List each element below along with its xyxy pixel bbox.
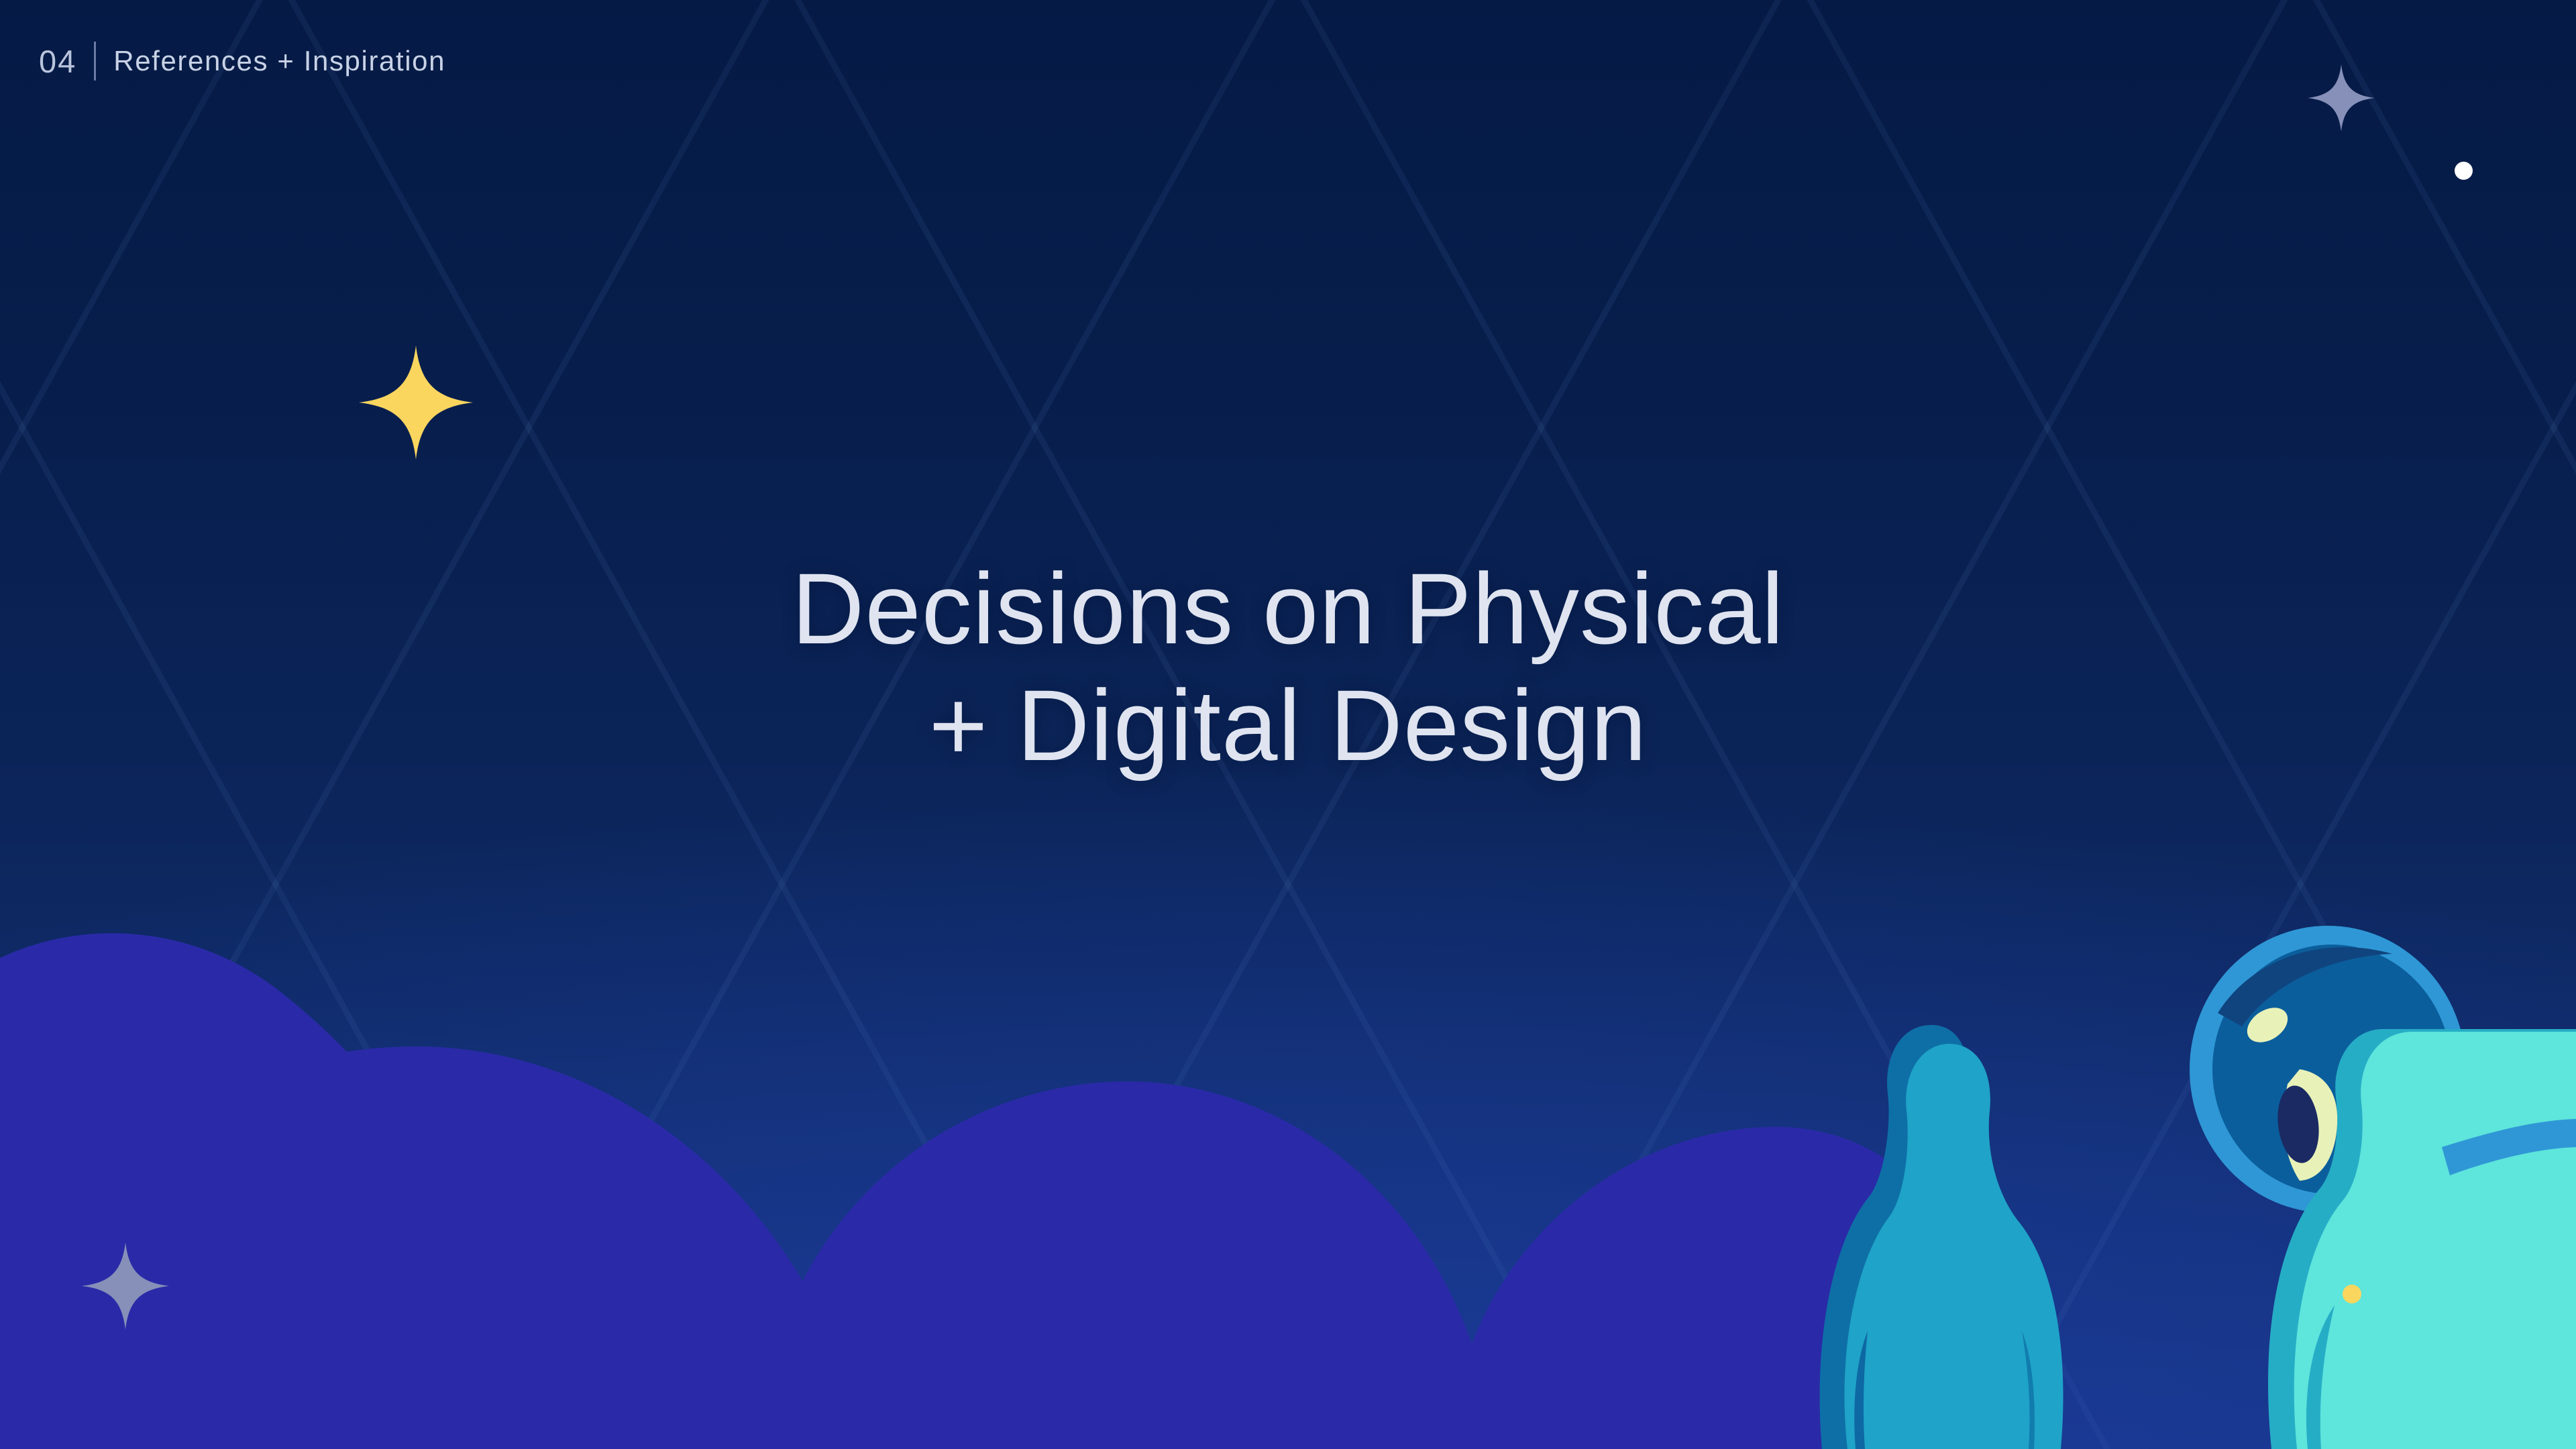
section-label: References + Inspiration bbox=[113, 47, 445, 75]
slide-number: 04 bbox=[39, 46, 76, 77]
title-line-1: Decisions on Physical bbox=[0, 550, 2576, 667]
dot-white-top-right bbox=[2455, 162, 2473, 180]
dot-yellow-bottom-right bbox=[2343, 1285, 2361, 1303]
hill-center-2 bbox=[758, 1081, 1496, 1449]
presentation-slide: 04 References + Inspiration Decisions on… bbox=[0, 0, 2576, 1449]
astronaut-left bbox=[1820, 1025, 2063, 1449]
star-lavender-bottom bbox=[82, 1242, 169, 1330]
star-lavender-top bbox=[2308, 64, 2375, 131]
slide-title: Decisions on Physical + Digital Design bbox=[0, 550, 2576, 784]
header-divider bbox=[94, 42, 96, 80]
astronaut-characters-group bbox=[1798, 926, 2576, 1449]
slide-header: 04 References + Inspiration bbox=[39, 42, 445, 80]
title-line-2: + Digital Design bbox=[0, 667, 2576, 784]
star-yellow-left bbox=[359, 345, 473, 460]
astronaut-right bbox=[2190, 926, 2576, 1449]
